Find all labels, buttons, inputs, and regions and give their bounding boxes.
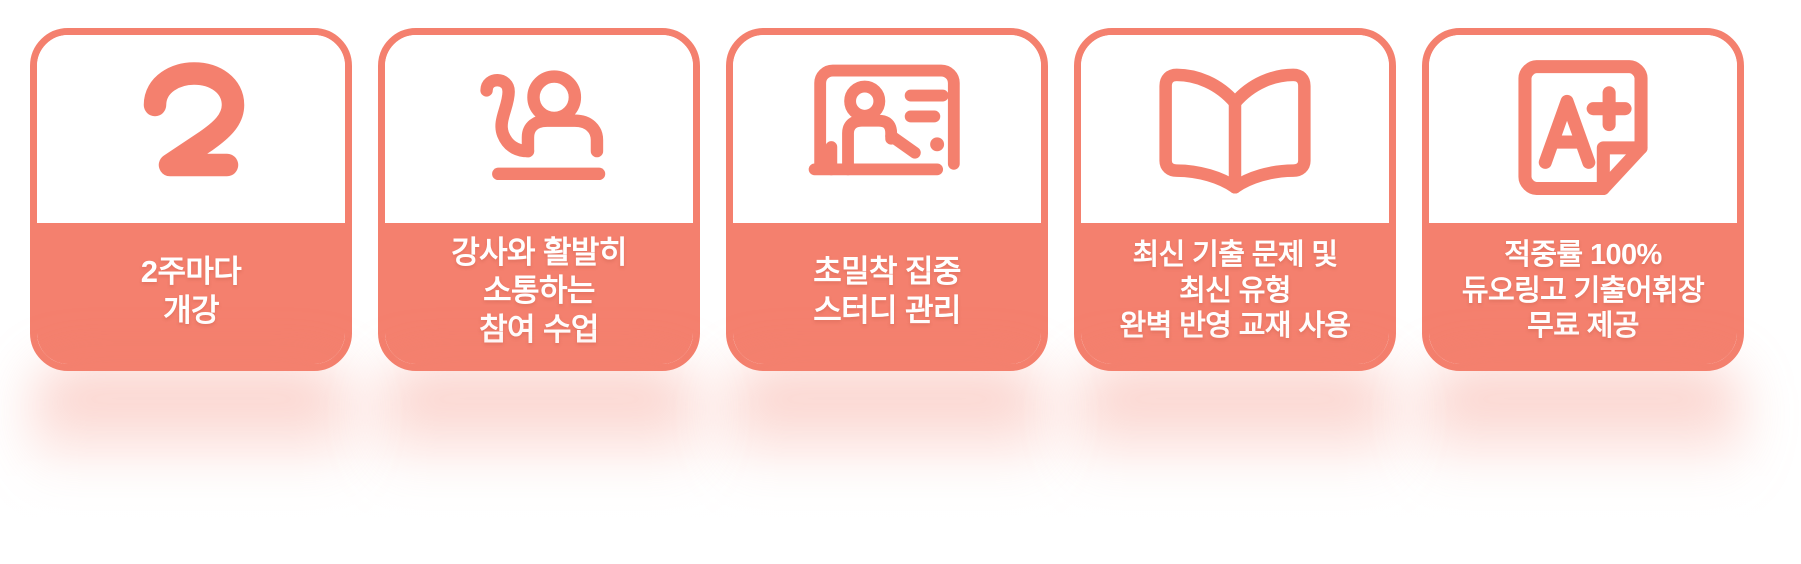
person-waving-icon [455, 60, 623, 198]
card-label-area: 2주마다 개강 [37, 223, 345, 364]
card-label-area: 초밀착 집중 스터디 관리 [733, 223, 1041, 364]
bottom-fade-overlay [0, 454, 1801, 564]
card-label: 최신 기출 문제 및 최신 유형 완벽 반영 교재 사용 [1119, 238, 1350, 346]
card-label-area: 강사와 활발히 소통하는 참여 수업 [385, 223, 693, 364]
card-icon-area [1429, 35, 1737, 223]
numeral-two-icon [116, 54, 266, 204]
card-icon-area [1081, 35, 1389, 223]
card-icon-area [37, 35, 345, 223]
feature-card-latest-materials[interactable]: 최신 기출 문제 및 최신 유형 완벽 반영 교재 사용 [1074, 28, 1396, 371]
card-label-area: 최신 기출 문제 및 최신 유형 완벽 반영 교재 사용 [1081, 223, 1389, 364]
card-label: 적중률 100% 듀오링고 기출어휘장 무료 제공 [1462, 238, 1704, 346]
card-label: 강사와 활발히 소통하는 참여 수업 [451, 234, 627, 349]
a-plus-document-icon [1507, 55, 1659, 203]
card-label: 초밀착 집중 스터디 관리 [813, 253, 961, 330]
open-book-icon [1149, 61, 1321, 197]
card-label: 2주마다 개강 [141, 253, 241, 330]
feature-card-free-vocab[interactable]: 적중률 100% 듀오링고 기출어휘장 무료 제공 [1422, 28, 1744, 371]
card-icon-area [385, 35, 693, 223]
feature-cards-row: 2주마다 개강 [0, 0, 1801, 420]
feature-card-biweekly-start[interactable]: 2주마다 개강 [30, 28, 352, 371]
card-label-area: 적중률 100% 듀오링고 기출어휘장 무료 제공 [1429, 223, 1737, 364]
feature-card-study-management[interactable]: 초밀착 집중 스터디 관리 [726, 28, 1048, 371]
card-icon-area [733, 35, 1041, 223]
feature-card-interactive-class[interactable]: 강사와 활발히 소통하는 참여 수업 [378, 28, 700, 371]
feature-cards-board: 2주마다 개강 [0, 0, 1801, 564]
teacher-whiteboard-icon [803, 58, 971, 200]
